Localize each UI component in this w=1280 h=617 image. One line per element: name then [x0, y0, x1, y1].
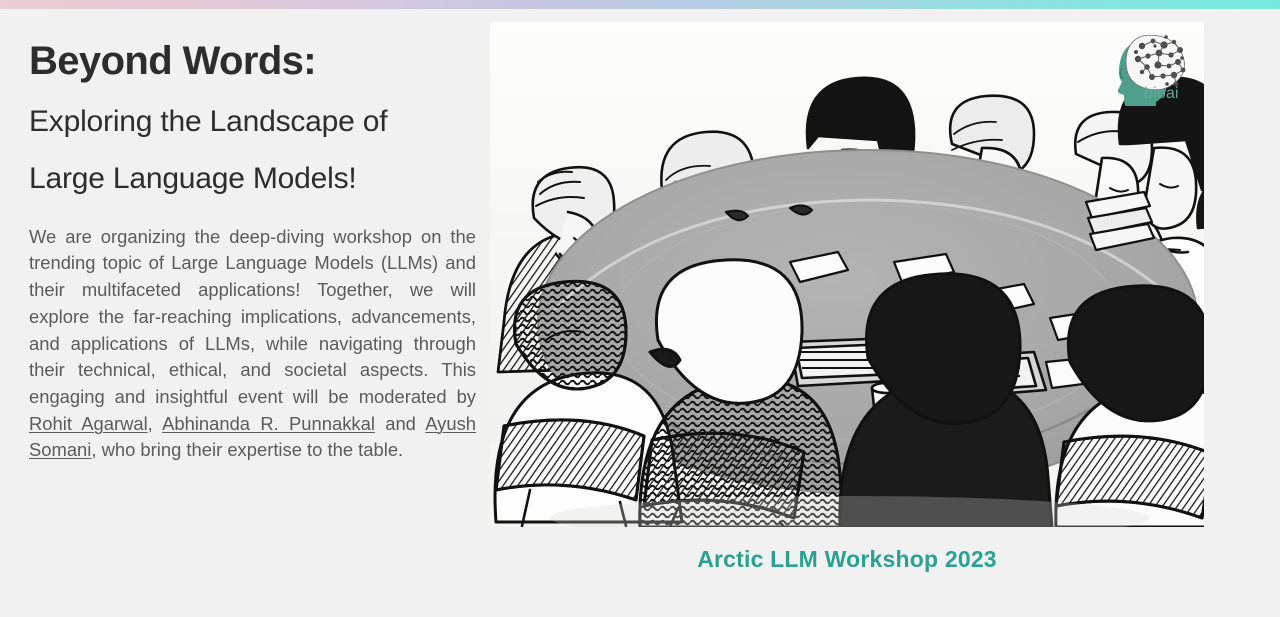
page-title: Beyond Words: Exploring the Landscape of…: [29, 39, 472, 207]
description-text-part-2: , who bring their expertise to the table…: [91, 439, 403, 460]
illustration-column: bioai Arctic LLM Workshop 2023: [490, 9, 1280, 617]
bioai-logo[interactable]: bioai: [1114, 32, 1192, 106]
description-separator-2: and: [375, 413, 425, 434]
description-paragraph: We are organizing the deep-diving worksh…: [29, 224, 476, 464]
description-separator-1: ,: [148, 413, 162, 434]
text-column: Beyond Words: Exploring the Landscape of…: [0, 9, 490, 617]
top-gradient-strip: [0, 0, 1280, 9]
workshop-illustration: bioai: [490, 22, 1204, 527]
title-main: Beyond Words:: [29, 39, 472, 84]
logo-wordmark: bioai: [1144, 85, 1179, 102]
illustration-caption: Arctic LLM Workshop 2023: [490, 546, 1204, 573]
poster-page: Beyond Words: Exploring the Landscape of…: [0, 9, 1280, 617]
moderator-link-abhinanda-r-punnakkal[interactable]: Abhinanda R. Punnakkal: [162, 413, 375, 434]
moderator-link-rohit-agarwal[interactable]: Rohit Agarwal: [29, 413, 148, 434]
round-table-workshop-sketch: [490, 22, 1204, 527]
network-nodes: [1126, 35, 1185, 90]
title-subtitle-line-2: Large Language Models!: [29, 150, 472, 207]
title-subtitle-line-1: Exploring the Landscape of: [29, 93, 472, 150]
description-text-part-1: We are organizing the deep-diving worksh…: [29, 226, 476, 407]
